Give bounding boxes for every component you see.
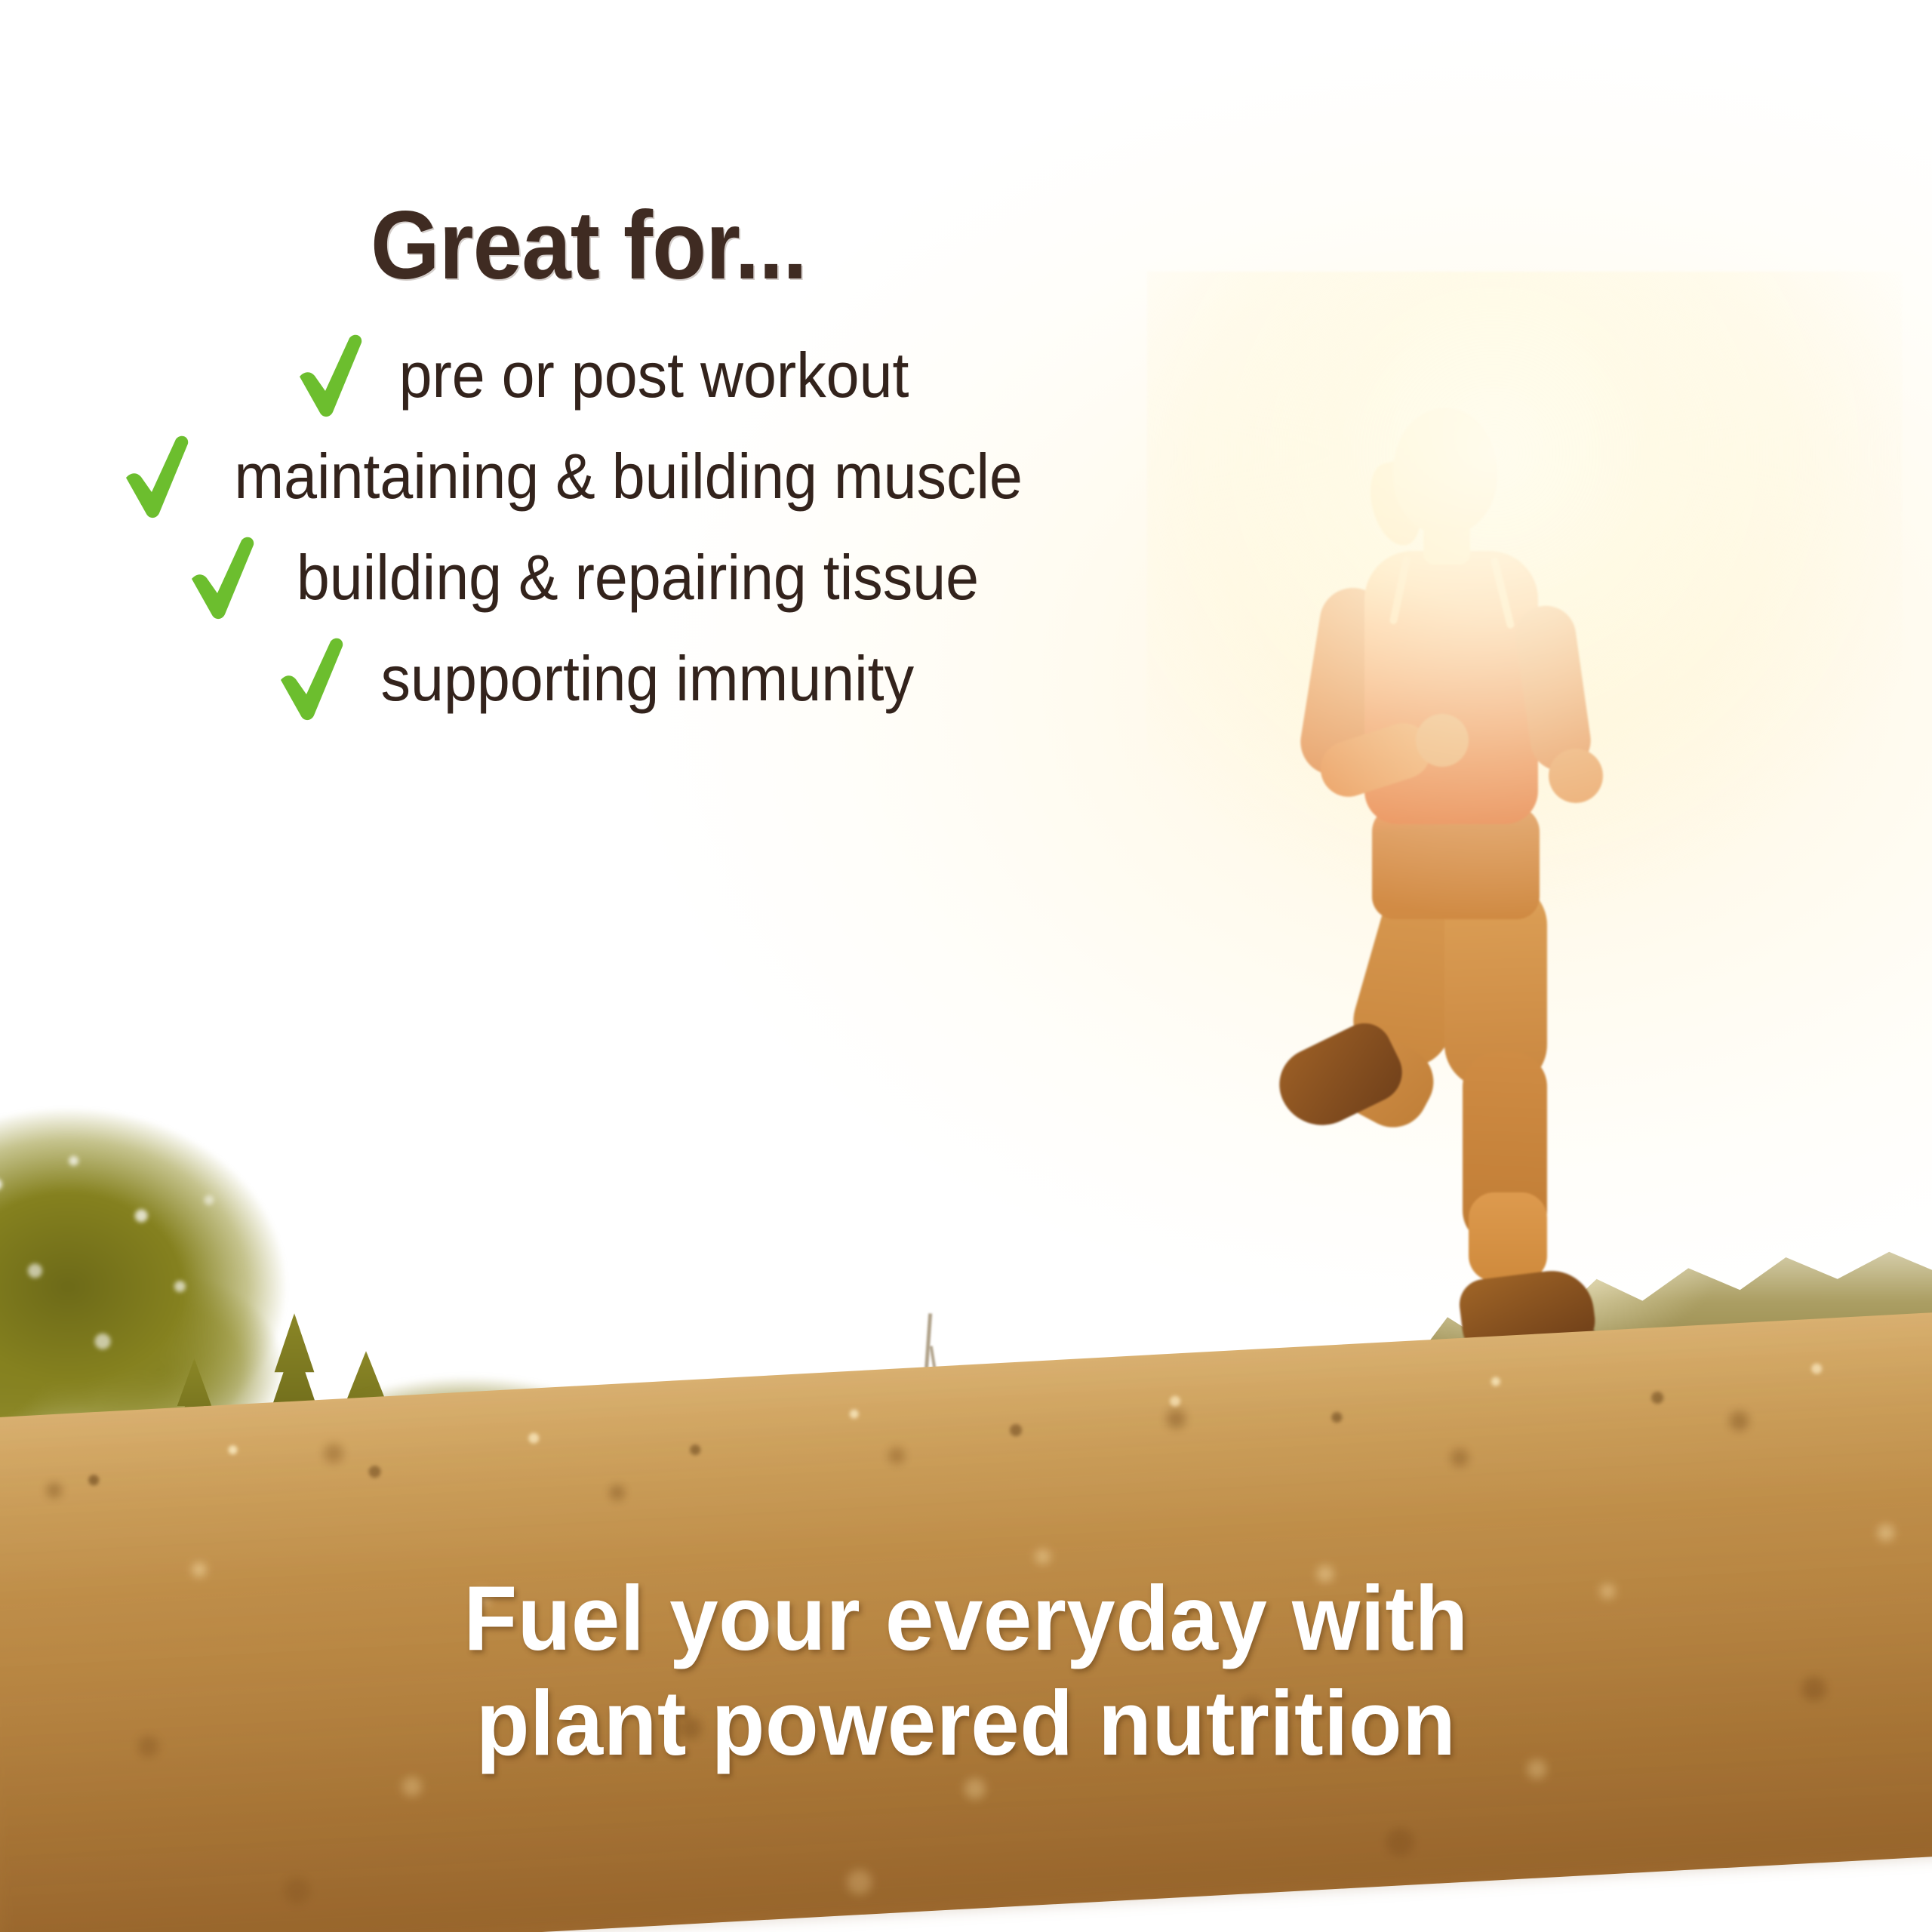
runner-silhouette	[1283, 408, 1766, 1426]
list-item: building & repairing tissue	[11, 536, 1177, 620]
runner-right-sock	[1469, 1192, 1547, 1281]
list-item: pre or post workout	[44, 334, 1177, 418]
check-icon	[122, 435, 194, 519]
benefits-panel: Great for... pre or post workout maintai…	[0, 0, 1177, 738]
list-item-label: pre or post workout	[399, 343, 909, 408]
check-icon	[276, 637, 349, 721]
tagline: Fuel your everyday with plant powered nu…	[48, 1566, 1884, 1776]
list-item-label: building & repairing tissue	[297, 546, 979, 611]
runner-right-fist	[1549, 749, 1603, 803]
list-item: supporting immunity	[30, 637, 1177, 721]
tagline-line-2: plant powered nutrition	[48, 1671, 1884, 1776]
promo-image-canvas: Great for... pre or post workout maintai…	[0, 0, 1932, 1932]
check-icon	[187, 536, 260, 620]
list-item-label: maintaining & building muscle	[235, 445, 1023, 509]
runner-head	[1393, 408, 1497, 534]
list-item: maintaining & building muscle	[0, 435, 1177, 519]
page-title: Great for...	[47, 198, 1130, 294]
tagline-line-1: Fuel your everyday with	[48, 1566, 1884, 1671]
benefits-checklist: pre or post workout maintaining & buildi…	[0, 334, 1177, 721]
check-icon	[295, 334, 368, 418]
runner-left-fist	[1416, 714, 1469, 767]
list-item-label: supporting immunity	[381, 647, 915, 712]
